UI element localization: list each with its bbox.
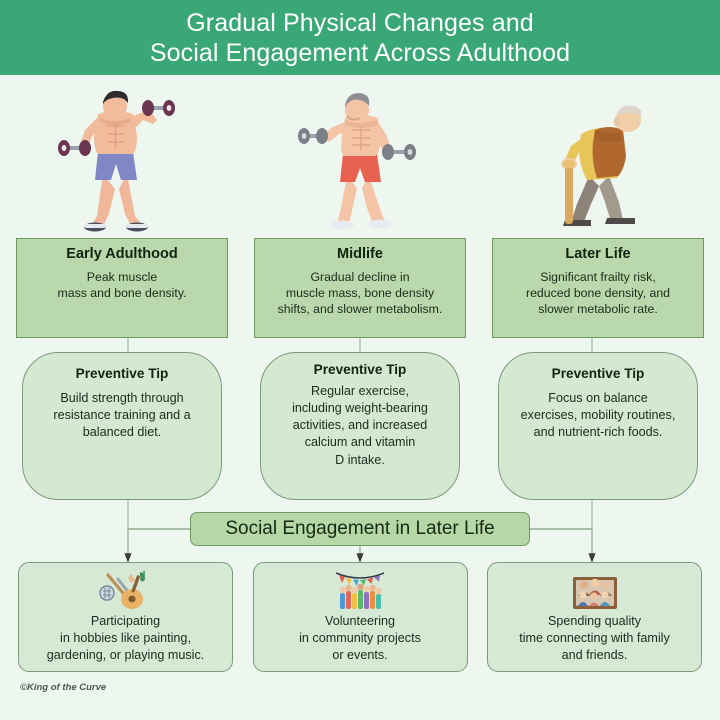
social-body: Spending quality time connecting with fa… — [519, 613, 670, 664]
tip-body: Focus on balance exercises, mobility rou… — [513, 390, 683, 441]
illustration-later-life — [480, 78, 720, 236]
stage-card-early-adulthood: Early Adulthood Peak muscle mass and bon… — [16, 238, 228, 338]
page-title-line1: Gradual Physical Changes and — [186, 9, 533, 37]
guitar-paintbrush-music-icon — [98, 569, 154, 611]
stage-body: Gradual decline in muscle mass, bone den… — [263, 269, 457, 318]
stage-card-later-life: Later Life Significant frailty risk, red… — [492, 238, 704, 338]
stage-body: Peak muscle mass and bone density. — [25, 269, 219, 301]
illustration-midlife — [240, 78, 480, 236]
header-banner: Gradual Physical Changes and Social Enga… — [0, 0, 720, 75]
midlife-man-lifting-dumbbells-icon — [285, 84, 435, 234]
social-card-row: Participating in hobbies like painting, … — [0, 562, 720, 672]
stage-card-midlife: Midlife Gradual decline in muscle mass, … — [254, 238, 466, 338]
volunteer-crowd-bunting-icon — [332, 569, 388, 611]
tip-title: Preventive Tip — [37, 366, 207, 381]
preventive-tip-row: Preventive Tip Build strength through re… — [0, 352, 720, 500]
preventive-tip-midlife: Preventive Tip Regular exercise, includi… — [260, 352, 460, 500]
dumbbell-upper — [142, 100, 175, 116]
tip-body: Regular exercise, including weight-beari… — [275, 383, 445, 469]
banner-label: Social Engagement in Later Life — [225, 518, 494, 540]
illustration-early-adulthood — [0, 78, 240, 236]
preventive-tip-early-adulthood: Preventive Tip Build strength through re… — [22, 352, 222, 500]
arrow-banner-to-family — [530, 529, 592, 558]
stage-title: Later Life — [501, 246, 695, 262]
preventive-tip-later-life: Preventive Tip Focus on balance exercise… — [498, 352, 698, 500]
page-title-line2: Social Engagement Across Adulthood — [150, 38, 570, 68]
tip-title: Preventive Tip — [513, 366, 683, 381]
stage-title: Midlife — [263, 246, 457, 262]
stage-body: Significant frailty risk, reduced bone d… — [501, 269, 695, 318]
social-engagement-banner: Social Engagement in Later Life — [190, 512, 530, 546]
tip-title: Preventive Tip — [275, 362, 445, 377]
social-card-hobbies: Participating in hobbies like painting, … — [18, 562, 233, 672]
older-man-with-cane-icon — [525, 84, 675, 234]
young-man-lifting-dumbbells-icon — [45, 84, 195, 234]
illustration-row — [0, 78, 720, 236]
stage-title: Early Adulthood — [25, 246, 219, 262]
arrow-banner-to-hobbies — [128, 529, 190, 558]
social-card-family: Spending quality time connecting with fa… — [487, 562, 702, 672]
dumbbell-right — [382, 144, 416, 160]
dumbbell-lower — [58, 140, 91, 156]
copyright-credit: ©King of the Curve — [20, 682, 106, 693]
infographic-root: Gradual Physical Changes and Social Enga… — [0, 0, 720, 720]
dumbbell-left — [298, 128, 328, 144]
family-group-photo-icon — [569, 569, 621, 611]
tip-body: Build strength through resistance traini… — [37, 390, 207, 441]
stage-card-row: Early Adulthood Peak muscle mass and bon… — [0, 238, 720, 338]
social-card-volunteering: Volunteering in community projects or ev… — [253, 562, 468, 672]
social-body: Volunteering in community projects or ev… — [299, 613, 421, 664]
page-title: Gradual Physical Changes and Social Enga… — [150, 8, 570, 68]
social-body: Participating in hobbies like painting, … — [47, 613, 205, 664]
